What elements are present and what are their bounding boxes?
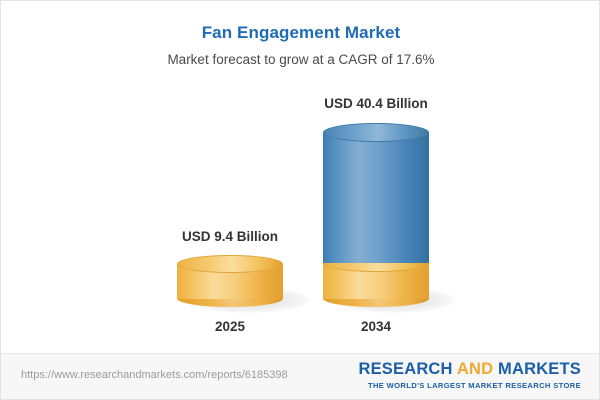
bar-upper-segment-2034 bbox=[323, 132, 429, 263]
plot-area: USD 9.4 Billion 2025 USD 40.4 Billion bbox=[1, 1, 600, 353]
bar-top-cap-2034 bbox=[323, 123, 429, 142]
category-label-2034: 2034 bbox=[266, 319, 486, 334]
bar-top-cap-2025 bbox=[177, 255, 283, 273]
research-and-markets-logo[interactable]: RESEARCH AND MARKETS THE WORLD'S LARGEST… bbox=[358, 360, 581, 390]
value-label-2034: USD 40.4 Billion bbox=[266, 96, 486, 111]
logo-tagline: THE WORLD'S LARGEST MARKET RESEARCH STOR… bbox=[358, 381, 581, 390]
footer-divider bbox=[1, 353, 600, 354]
value-label-2025: USD 9.4 Billion bbox=[120, 229, 340, 244]
logo-word-and: AND bbox=[457, 360, 493, 378]
chart-page: Fan Engagement Market Market forecast to… bbox=[0, 0, 600, 400]
logo-word-research: RESEARCH bbox=[358, 360, 452, 378]
logo-word-markets: MARKETS bbox=[498, 360, 581, 378]
logo-wordmark: RESEARCH AND MARKETS bbox=[358, 360, 581, 379]
source-url[interactable]: https://www.researchandmarkets.com/repor… bbox=[21, 369, 288, 381]
